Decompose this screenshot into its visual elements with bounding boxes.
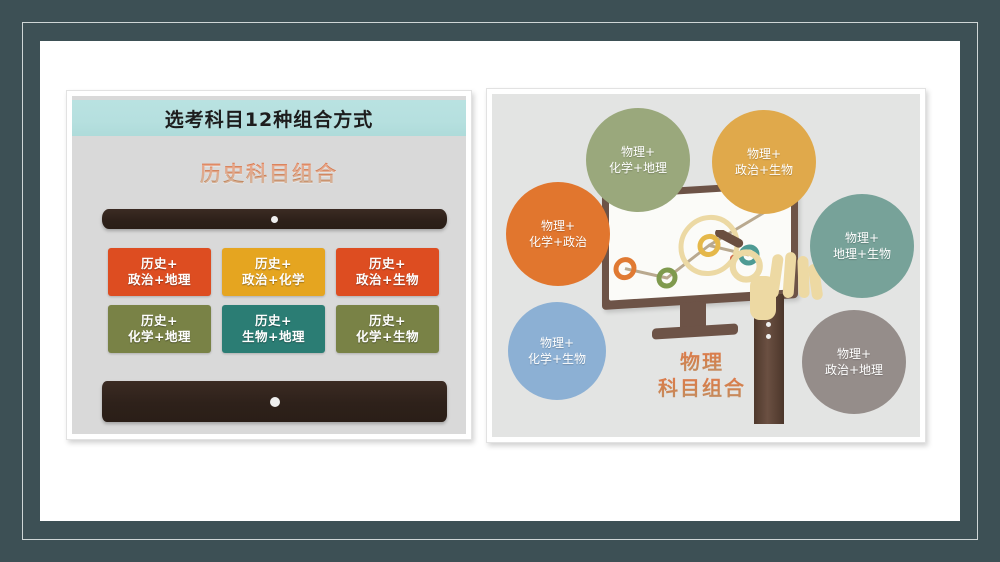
top-bar-dot-icon: [271, 216, 278, 223]
history-combo-row-2: 历史+ 化学+地理 历史+ 生物+地理 历史+ 化学+生物: [108, 305, 441, 353]
history-combo-row-1: 历史+ 政治+地理 历史+ 政治+化学 历史+ 政治+生物: [108, 248, 441, 296]
history-combo-grid: 历史+ 政治+地理 历史+ 政治+化学 历史+ 政治+生物 历史+: [108, 248, 441, 362]
monitor-base: [652, 323, 738, 339]
physics-combo-bubble[interactable]: 物理+ 政治+生物: [712, 110, 816, 214]
physics-combo-bubble[interactable]: 物理+ 化学+地理: [586, 108, 690, 212]
history-subtitle: 历史科目组合: [72, 158, 466, 188]
physics-combo-bubble[interactable]: 物理+ 政治+地理: [802, 310, 906, 414]
page-title: 选考科目12种组合方式: [165, 105, 373, 132]
top-dark-bar: [102, 209, 447, 229]
physics-combo-bubble[interactable]: 物理+ 化学+政治: [506, 182, 610, 286]
right-panel-inner: 物理+ 化学+地理 物理+ 政治+生物 物理+ 化学+政治 物理+ 地理+生物 …: [492, 94, 920, 437]
history-subject-combinations-panel: 选考科目12种组合方式 历史科目组合 历史+ 政治+地理 历史+ 政治+化学: [66, 90, 472, 440]
bottom-dark-bar: [102, 381, 447, 422]
combo-box[interactable]: 历史+ 化学+地理: [108, 305, 211, 353]
combo-box[interactable]: 历史+ 政治+生物: [336, 248, 439, 296]
title-banner: 选考科目12种组合方式: [72, 100, 466, 136]
physics-combo-bubble[interactable]: 物理+ 地理+生物: [810, 194, 914, 298]
combo-box[interactable]: 历史+ 化学+生物: [336, 305, 439, 353]
combo-box[interactable]: 历史+ 生物+地理: [222, 305, 325, 353]
physics-combo-bubble[interactable]: 物理+ 化学+生物: [508, 302, 606, 400]
bottom-bar-dot-icon: [270, 397, 280, 407]
left-panel-inner: 选考科目12种组合方式 历史科目组合 历史+ 政治+地理 历史+ 政治+化学: [72, 96, 466, 434]
physics-subject-combinations-panel: 物理+ 化学+地理 物理+ 政治+生物 物理+ 化学+政治 物理+ 地理+生物 …: [486, 88, 926, 443]
slide-root: 选考科目12种组合方式 历史科目组合 历史+ 政治+地理 历史+ 政治+化学: [0, 0, 1000, 562]
physics-group-label: 物理 科目组合: [632, 349, 772, 401]
combo-box[interactable]: 历史+ 政治+化学: [222, 248, 325, 296]
combo-box[interactable]: 历史+ 政治+地理: [108, 248, 211, 296]
